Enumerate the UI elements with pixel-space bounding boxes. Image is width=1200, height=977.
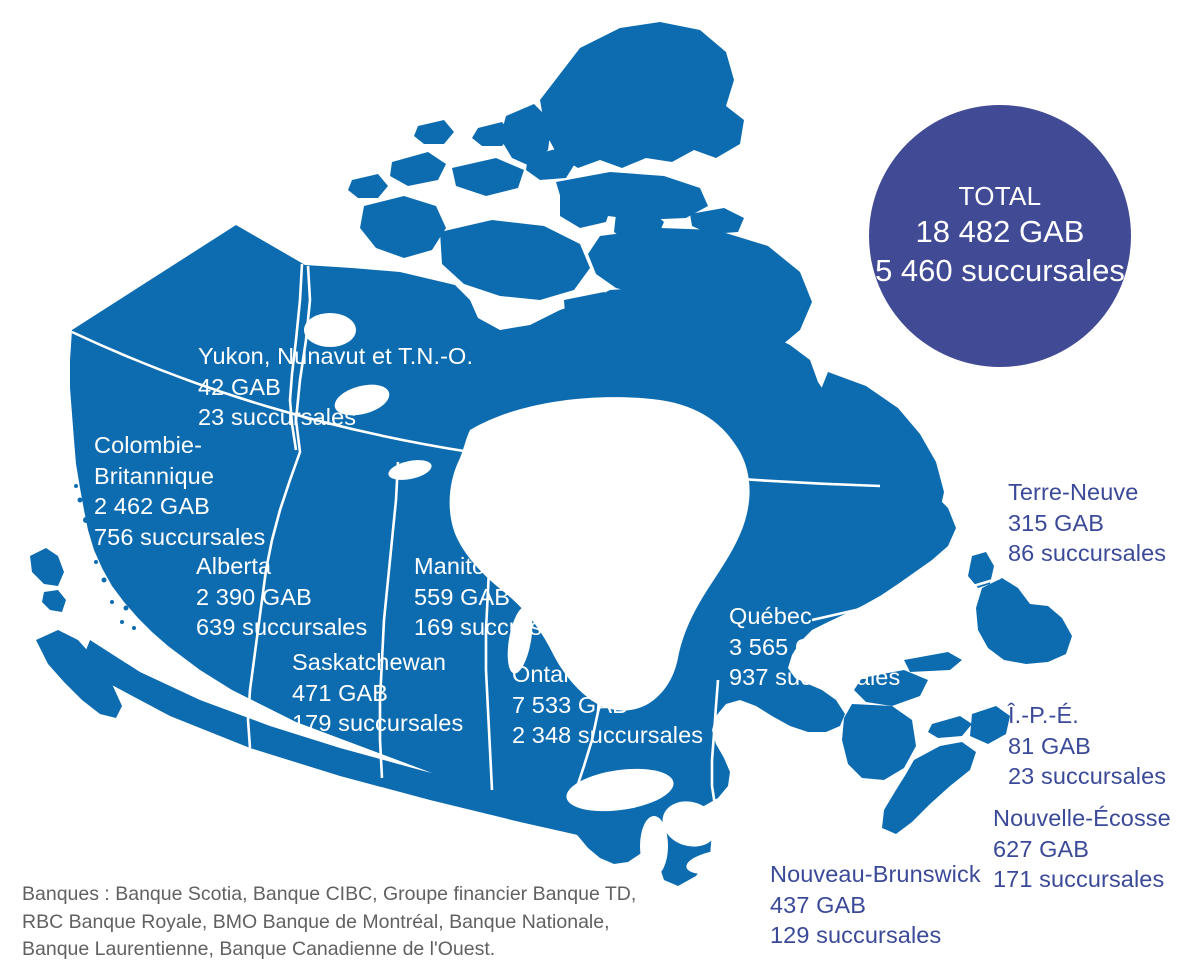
label-new-brunswick-branches: 129 succursales [770, 920, 981, 951]
sources-footnote: Banques : Banque Scotia, Banque CIBC, Gr… [22, 881, 722, 964]
lake-ontario [723, 826, 773, 851]
label-manitoba-name: Manitoba [414, 551, 585, 582]
label-newfoundland-name: Terre-Neuve [1008, 477, 1166, 508]
label-nova-scotia: Nouvelle-Écosse 627 GAB 171 succursales [993, 803, 1171, 895]
label-saskatchewan: Saskatchewan 471 GAB 179 succursales [292, 647, 463, 739]
label-ontario-atms: 7 533 GAB [512, 690, 703, 721]
label-ontario-branches: 2 348 succursales [512, 720, 703, 751]
prince-patrick-island [390, 152, 446, 186]
total-summary-bubble: TOTAL 18 482 GAB 5 460 succursales [869, 105, 1131, 367]
ellesmere-island [540, 22, 744, 168]
label-alberta-atms: 2 390 GAB [196, 582, 367, 613]
label-newfoundland: Terre-Neuve 315 GAB 86 succursales [1008, 477, 1166, 569]
total-heading: TOTAL [959, 181, 1042, 213]
label-territories-atms: 42 GAB [198, 372, 473, 403]
label-manitoba-branches: 169 succursales [414, 612, 585, 643]
label-british-columbia-name-2: Britannique [94, 461, 265, 492]
label-territories-name: Yukon, Nunavut et T.N.-O. [198, 341, 473, 372]
small-arctic-island-b [414, 120, 454, 144]
label-pei-branches: 23 succursales [1008, 761, 1166, 792]
label-quebec-branches: 937 succursales [729, 662, 900, 693]
label-quebec-name: Québec [729, 601, 900, 632]
label-territories: Yukon, Nunavut et T.N.-O. 42 GAB 23 succ… [198, 341, 473, 433]
label-nova-scotia-branches: 171 succursales [993, 864, 1171, 895]
prince-edward-island [928, 716, 972, 738]
label-british-columbia-atms: 2 462 GAB [94, 491, 265, 522]
small-arctic-island-c [348, 174, 388, 198]
lake-michigan [640, 816, 668, 876]
canada-banking-infographic: Yukon, Nunavut et T.N.-O. 42 GAB 23 succ… [0, 0, 1200, 977]
total-atms: 18 482 GAB [916, 213, 1085, 252]
label-quebec-atms: 3 565 GAB [729, 632, 900, 663]
label-saskatchewan-branches: 179 succursales [292, 708, 463, 739]
label-alberta-branches: 639 succursales [196, 612, 367, 643]
label-alberta: Alberta 2 390 GAB 639 succursales [196, 551, 367, 643]
new-brunswick-landmass [842, 704, 916, 780]
label-saskatchewan-name: Saskatchewan [292, 647, 463, 678]
label-ontario-name: Ontario [512, 659, 703, 690]
label-newfoundland-atms: 315 GAB [1008, 508, 1166, 539]
haida-gwaii-south [42, 590, 66, 612]
melville-island [452, 158, 524, 196]
footnote-line-2: RBC Banque Royale, BMO Banque de Montréa… [22, 909, 722, 937]
label-british-columbia: Colombie- Britannique 2 462 GAB 756 succ… [94, 430, 265, 552]
footnote-line-1: Banques : Banque Scotia, Banque CIBC, Gr… [22, 881, 722, 909]
haida-gwaii [30, 548, 64, 586]
label-manitoba-atms: 559 GAB [414, 582, 585, 613]
label-new-brunswick-atms: 437 GAB [770, 890, 981, 921]
label-british-columbia-name-1: Colombie- [94, 430, 265, 461]
label-newfoundland-branches: 86 succursales [1008, 538, 1166, 569]
label-british-columbia-branches: 756 succursales [94, 522, 265, 553]
label-manitoba: Manitoba 559 GAB 169 succursales [414, 551, 585, 643]
label-territories-branches: 23 succursales [198, 402, 473, 433]
victoria-island [440, 220, 590, 300]
label-nova-scotia-atms: 627 GAB [993, 834, 1171, 865]
label-new-brunswick-name: Nouveau-Brunswick [770, 859, 981, 890]
total-branches: 5 460 succursales [875, 252, 1125, 291]
label-pei-name: Î.-P.-É. [1008, 700, 1166, 731]
anticosti-island [904, 652, 962, 672]
label-pei-atms: 81 GAB [1008, 731, 1166, 762]
banks-island [360, 196, 446, 258]
label-quebec: Québec 3 565 GAB 937 succursales [729, 601, 900, 693]
newfoundland-island [976, 578, 1072, 664]
label-new-brunswick: Nouveau-Brunswick 437 GAB 129 succursale… [770, 859, 981, 951]
cape-breton-island [970, 706, 1010, 744]
label-nova-scotia-name: Nouvelle-Écosse [993, 803, 1171, 834]
label-ontario: Ontario 7 533 GAB 2 348 succursales [512, 659, 703, 751]
footnote-line-3: Banque Laurentienne, Banque Canadienne d… [22, 936, 722, 964]
label-saskatchewan-atms: 471 GAB [292, 678, 463, 709]
label-pei: Î.-P.-É. 81 GAB 23 succursales [1008, 700, 1166, 792]
label-alberta-name: Alberta [196, 551, 367, 582]
